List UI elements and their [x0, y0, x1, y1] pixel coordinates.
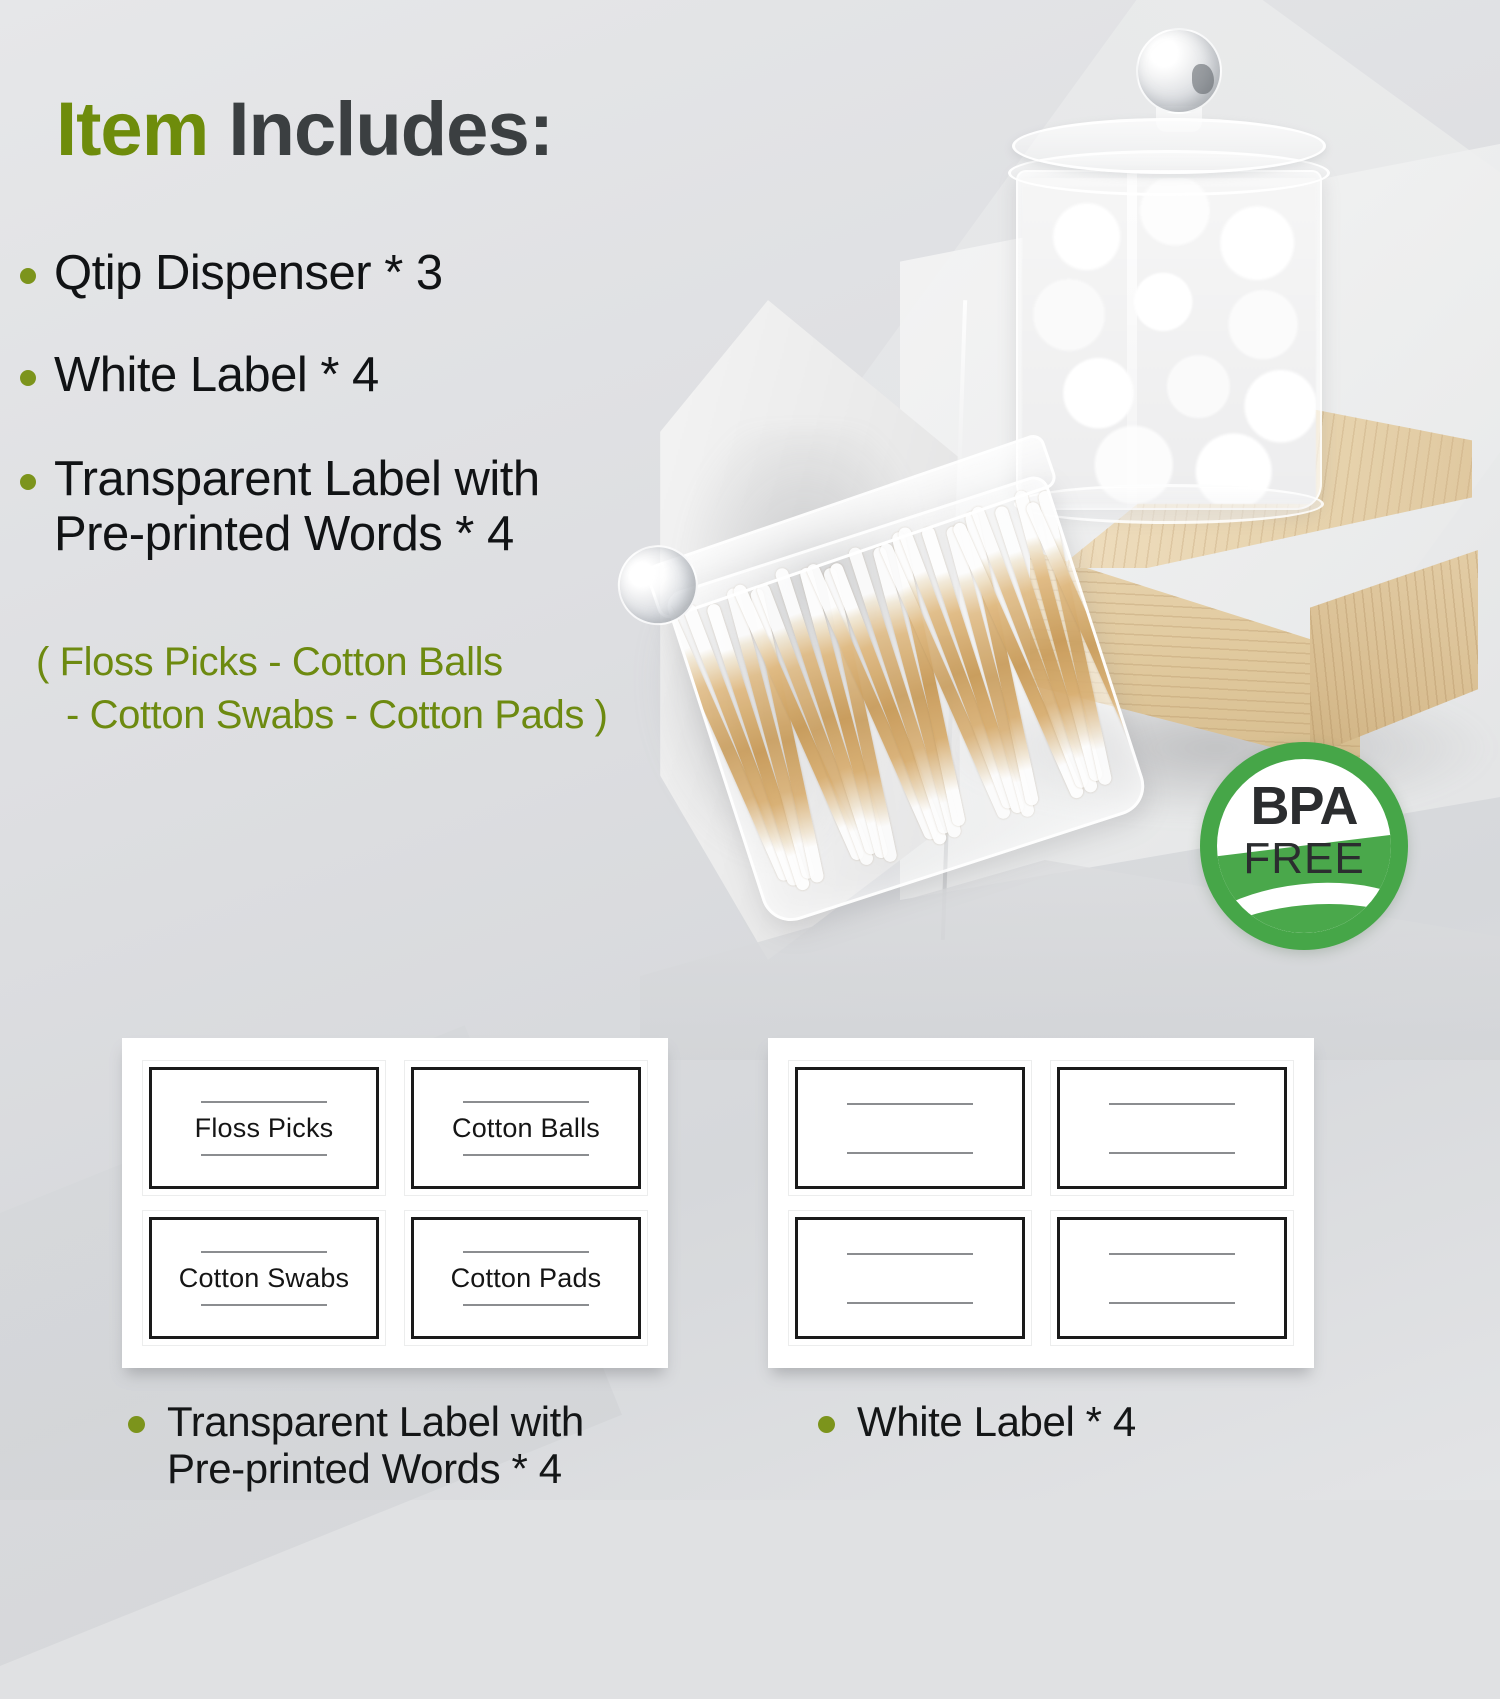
- label-rule-top: [463, 1251, 589, 1253]
- label-rule-top: [847, 1253, 973, 1255]
- white-label-sheet: [768, 1038, 1314, 1368]
- caption-line-1: Transparent Label with: [167, 1398, 584, 1445]
- badge-inner: BPA FREE: [1217, 759, 1391, 933]
- label-rule-top: [847, 1103, 973, 1105]
- label-rule-bottom: [847, 1302, 973, 1304]
- list-item-white-label: White Label * 4: [20, 348, 379, 403]
- jar-lid-knob: [1136, 28, 1222, 114]
- page-title-accent: Item: [56, 87, 208, 172]
- list-item-label: Qtip Dispenser * 3: [54, 246, 443, 301]
- caption-white-label: White Label * 4: [818, 1398, 1136, 1445]
- label-rule-top: [1109, 1253, 1235, 1255]
- label-text: Cotton Balls: [452, 1113, 600, 1144]
- label-cell: Cotton Pads: [404, 1210, 648, 1346]
- label-cell: Cotton Swabs: [142, 1210, 386, 1346]
- blank-label-1: [795, 1067, 1025, 1189]
- label-floss-picks: Floss Picks: [149, 1067, 379, 1189]
- label-cell: [788, 1060, 1032, 1196]
- list-item-label-line2: Pre-printed Words * 4: [54, 507, 514, 561]
- blank-label-2: [1057, 1067, 1287, 1189]
- bullet-dot-icon: [20, 474, 36, 490]
- page-title-main: Includes:: [228, 87, 553, 172]
- label-rule-bottom: [201, 1304, 327, 1306]
- list-item-qtip-dispenser: Qtip Dispenser * 3: [20, 246, 443, 301]
- label-cotton-balls: Cotton Balls: [411, 1067, 641, 1189]
- label-rule-bottom: [463, 1304, 589, 1306]
- jar-glass-highlight: [1127, 172, 1137, 508]
- bpa-free-badge-icon: BPA FREE: [1200, 742, 1408, 950]
- cotton-balls-fill: [1022, 178, 1316, 504]
- label-rule-top: [463, 1101, 589, 1103]
- caption-text: Transparent Label withPre-printed Words …: [167, 1398, 584, 1492]
- label-cell: Cotton Balls: [404, 1060, 648, 1196]
- jar-body: [1016, 170, 1322, 510]
- knob-reflection: [1192, 64, 1214, 94]
- blank-label-3: [795, 1217, 1025, 1339]
- bullet-dot-icon: [128, 1416, 145, 1433]
- label-rule-top: [201, 1251, 327, 1253]
- label-rule-top: [1109, 1103, 1235, 1105]
- list-item-label-line1: Transparent Label with: [54, 452, 540, 506]
- page-title: Item Includes:: [56, 86, 553, 173]
- caption-text: White Label * 4: [857, 1398, 1136, 1445]
- label-cell: [1050, 1210, 1294, 1346]
- list-item-label: Transparent Label withPre-printed Words …: [54, 452, 540, 562]
- blank-label-4: [1057, 1217, 1287, 1339]
- label-cell: Floss Picks: [142, 1060, 386, 1196]
- label-rule-bottom: [463, 1154, 589, 1156]
- label-text: Floss Picks: [195, 1113, 334, 1144]
- label-text: Cotton Swabs: [179, 1263, 350, 1294]
- label-text: Cotton Pads: [451, 1263, 602, 1294]
- label-cotton-pads: Cotton Pads: [411, 1217, 641, 1339]
- label-rule-bottom: [201, 1154, 327, 1156]
- caption-line-2: Pre-printed Words * 4: [167, 1445, 562, 1492]
- label-rule-bottom: [1109, 1152, 1235, 1154]
- label-rule-bottom: [847, 1152, 973, 1154]
- caption-transparent-label: Transparent Label withPre-printed Words …: [128, 1398, 584, 1492]
- badge-subtitle: FREE: [1217, 837, 1391, 881]
- list-item-transparent-label: Transparent Label withPre-printed Words …: [20, 452, 540, 562]
- label-rule-top: [201, 1101, 327, 1103]
- sublist-line-1: ( Floss Picks - Cotton Balls: [36, 640, 503, 684]
- bullet-dot-icon: [20, 268, 36, 284]
- label-rule-bottom: [1109, 1302, 1235, 1304]
- label-cell: [1050, 1060, 1294, 1196]
- transparent-label-sheet: Floss Picks Cotton Balls Cotton Swabs Co…: [122, 1038, 668, 1368]
- badge-title: BPA: [1217, 781, 1391, 833]
- preprinted-words-sublist: ( Floss Picks - Cotton Balls - Cotton Sw…: [36, 636, 608, 742]
- label-cell: [788, 1210, 1032, 1346]
- bullet-dot-icon: [20, 370, 36, 386]
- list-item-label: White Label * 4: [54, 348, 379, 403]
- sublist-line-2: - Cotton Swabs - Cotton Pads ): [36, 689, 608, 742]
- label-cotton-swabs: Cotton Swabs: [149, 1217, 379, 1339]
- bullet-dot-icon: [818, 1416, 835, 1433]
